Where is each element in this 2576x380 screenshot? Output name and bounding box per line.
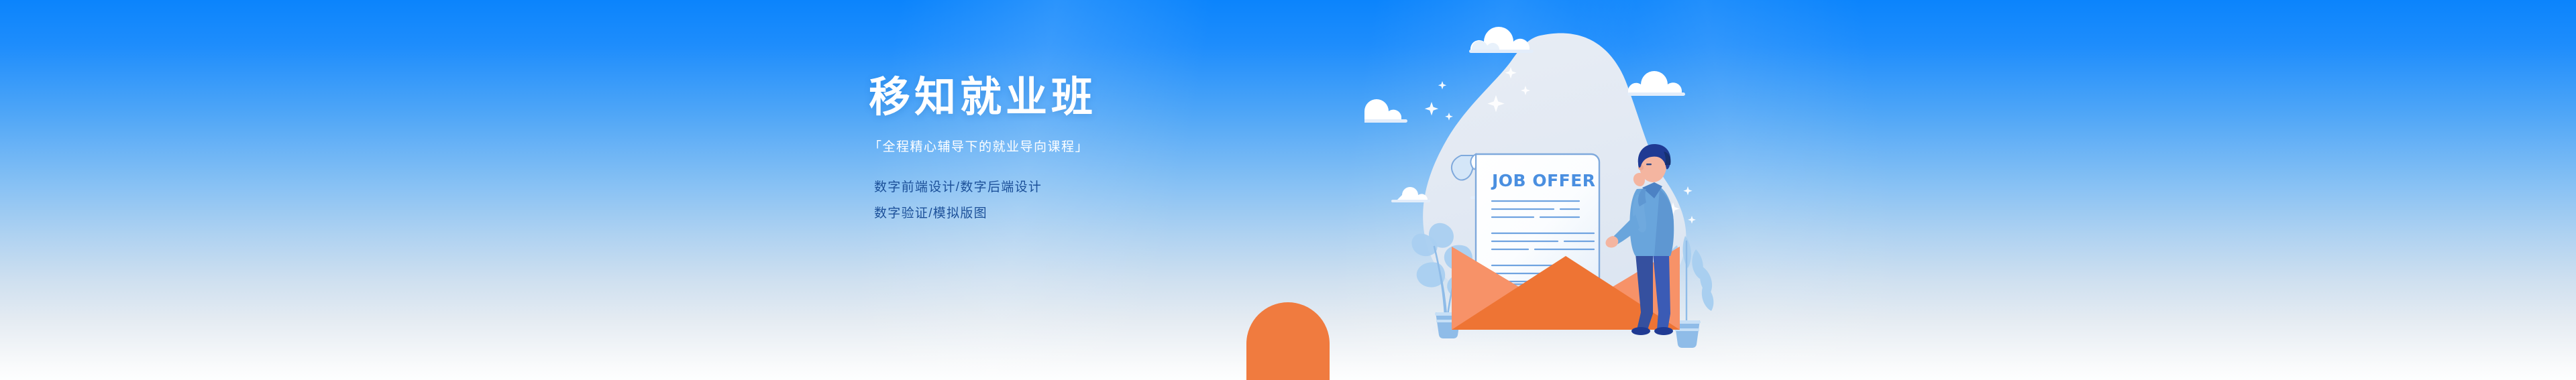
orange-dome-accent [1246, 302, 1330, 380]
cloud-icon-right [1627, 71, 1685, 96]
cloud-icon-top [1469, 27, 1534, 53]
banner-tagline: 「全程精心辅导下的就业导向课程」 [869, 119, 1285, 157]
cloud-icon-left [1364, 99, 1407, 123]
cloud-icon-mid [1391, 187, 1430, 202]
course-list-item: 数字验证/模拟版图 [869, 200, 1285, 227]
course-list-item: 数字前端设计/数字后端设计 [869, 174, 1285, 200]
banner-text-block: 移知就业班 「全程精心辅导下的就业导向课程」 数字前端设计/数字后端设计 数字验… [869, 75, 1285, 227]
promo-banner: 移知就业班 「全程精心辅导下的就业导向课程」 数字前端设计/数字后端设计 数字验… [0, 0, 2576, 380]
document-heading: JOB OFFER [1491, 171, 1596, 190]
banner-title: 移知就业班 [869, 75, 1285, 119]
job-offer-illustration: JOB OFFER [1364, 0, 1767, 380]
course-list: 数字前端设计/数字后端设计 数字验证/模拟版图 [869, 157, 1285, 227]
